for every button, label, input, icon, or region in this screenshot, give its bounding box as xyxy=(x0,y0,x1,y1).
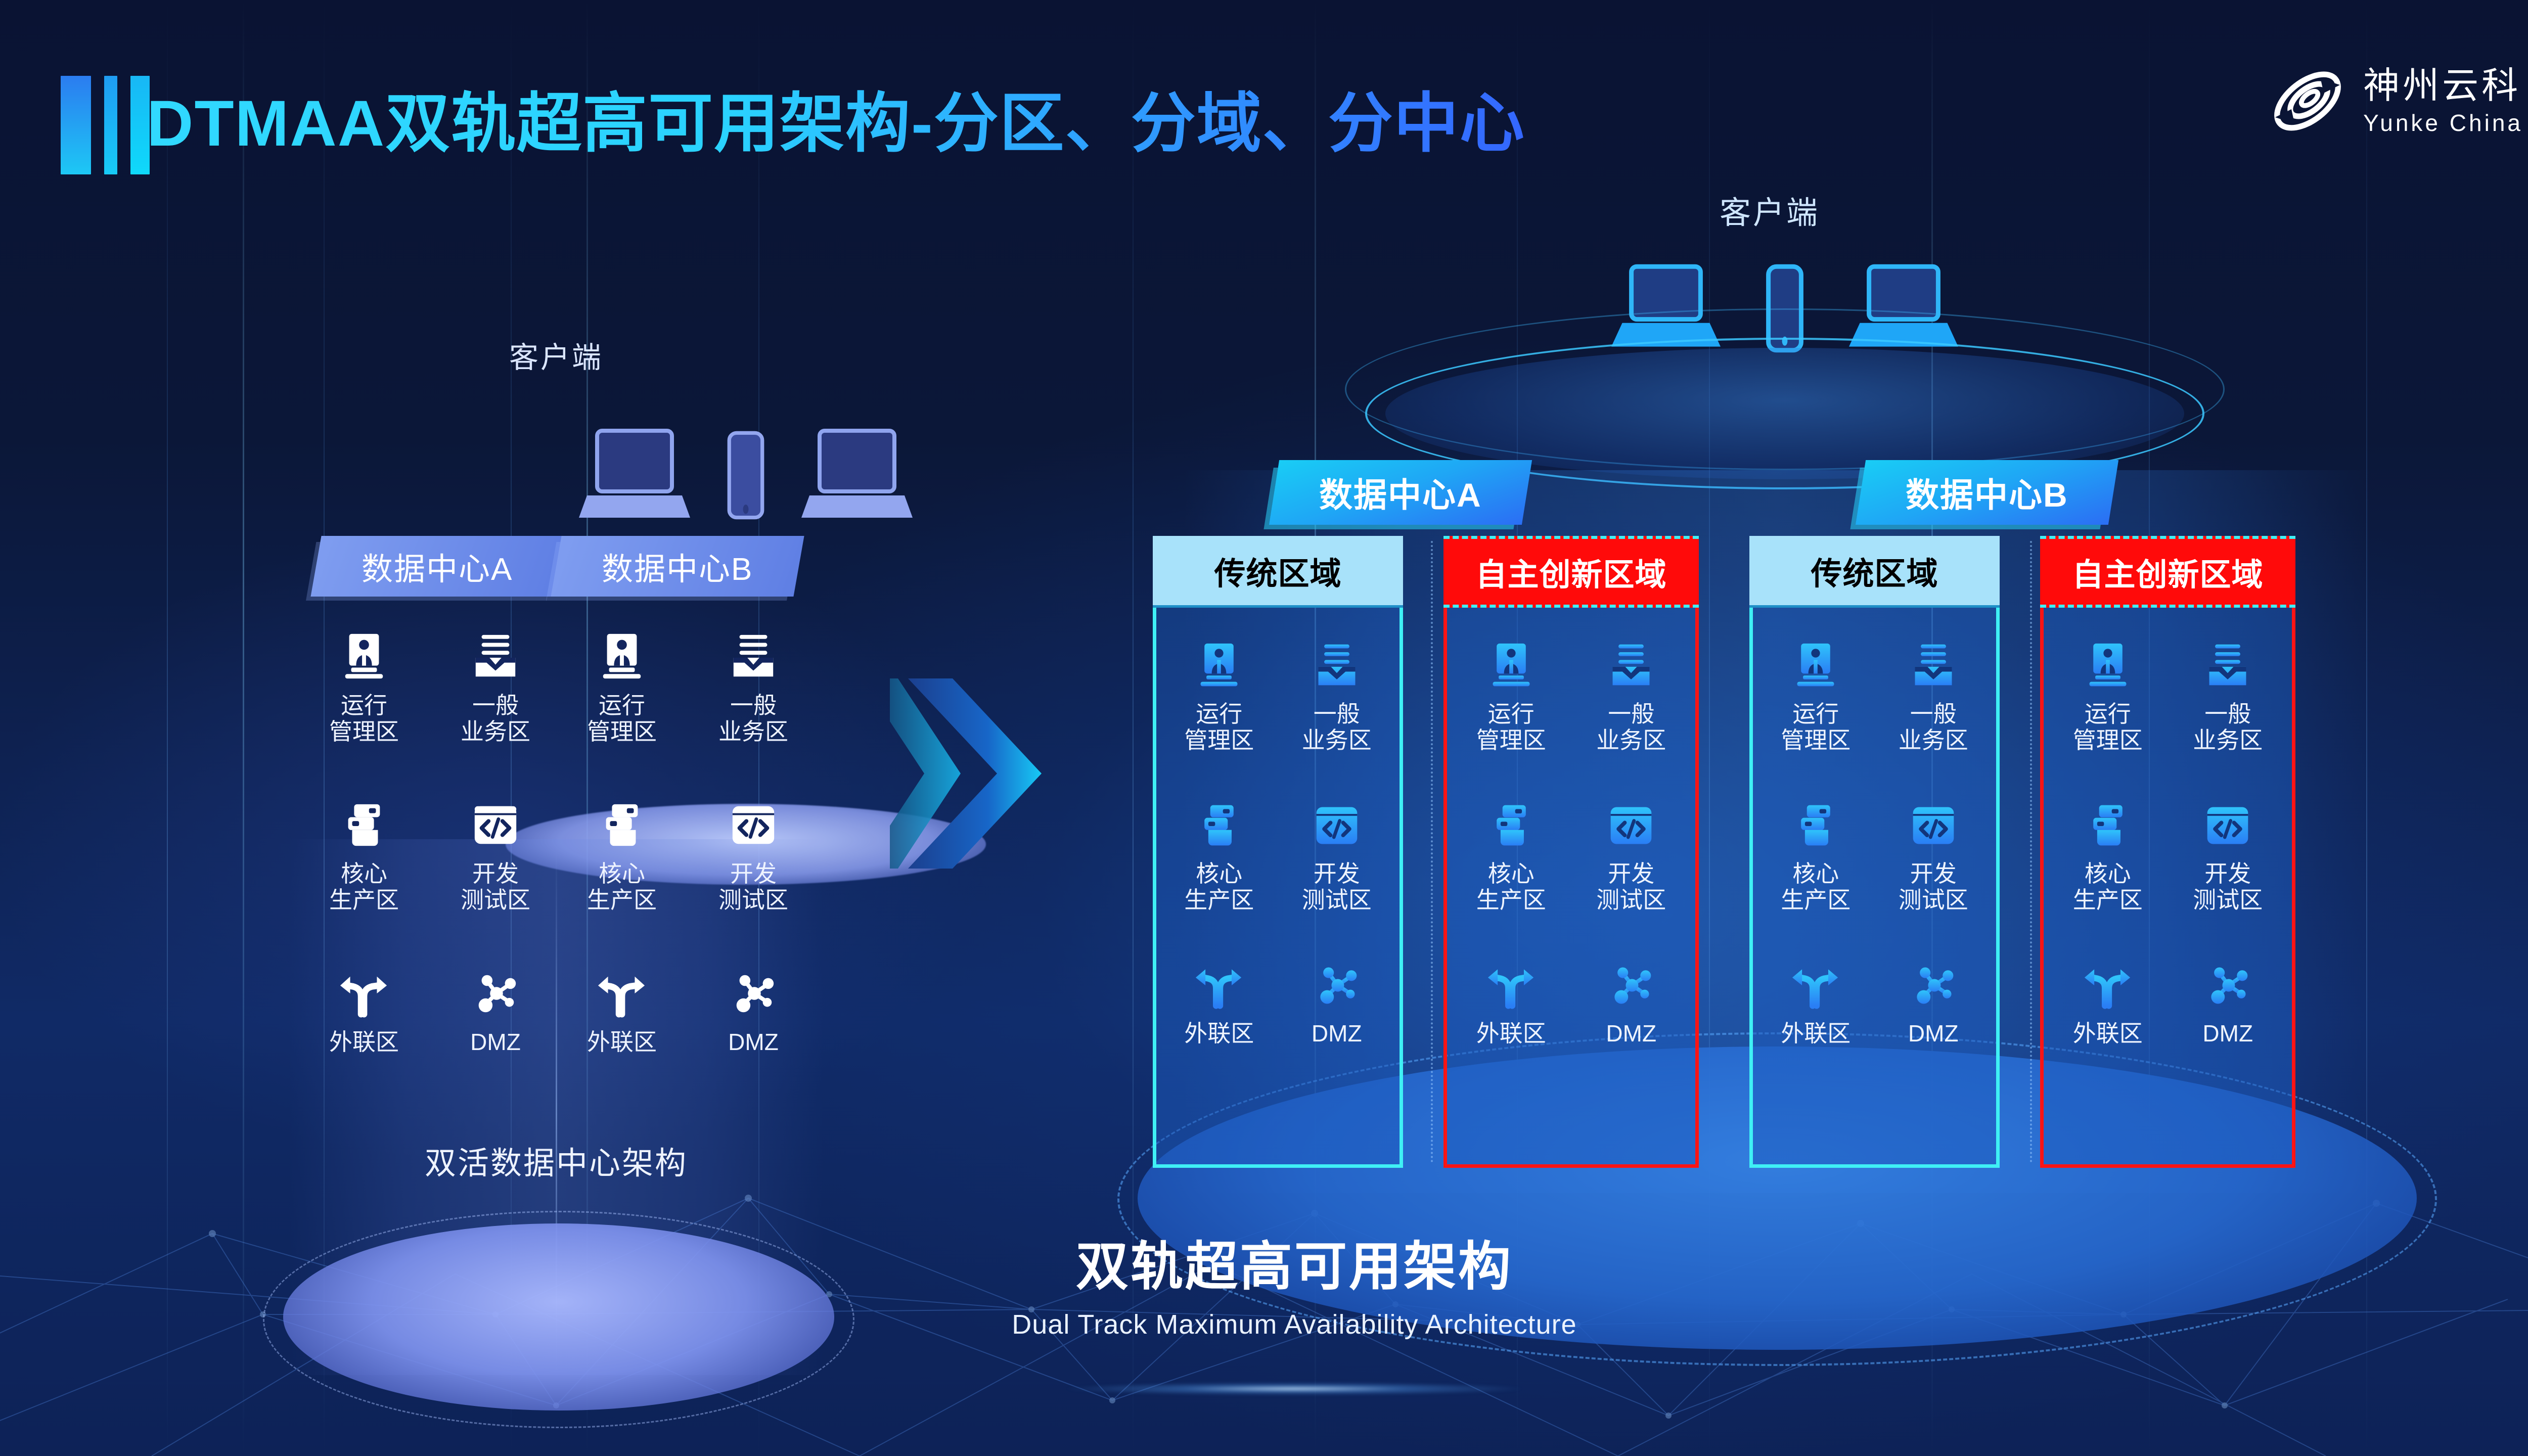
zone-label: 核心 生产区 xyxy=(329,861,399,913)
zone-item: 核心 生产区 xyxy=(1757,801,1875,913)
zone-item: 核心 生产区 xyxy=(2048,801,2168,913)
panel-header: 自主创新区域 xyxy=(2040,536,2295,608)
zone-label: 核心 生产区 xyxy=(1476,861,1546,913)
left-dc-tag-a: 数据中心A xyxy=(310,536,564,597)
zone-label: 开发 测试区 xyxy=(1302,861,1372,913)
network-nodes-icon xyxy=(729,969,778,1018)
panel-header: 传统区域 xyxy=(1749,536,2000,608)
zone-label: 开发 测试区 xyxy=(1899,861,1968,913)
inbox-tray-icon xyxy=(1909,642,1958,690)
zone-label: 外联区 xyxy=(1476,1021,1546,1047)
code-brackets-icon xyxy=(471,800,520,850)
zone-label: 核心 生产区 xyxy=(1781,861,1850,913)
bottom-glow xyxy=(1067,1382,1522,1395)
zone-label: 开发 测试区 xyxy=(1596,861,1666,913)
zone-item: 外联区 xyxy=(556,969,688,1056)
logo-text-cn: 神州云科 xyxy=(2363,68,2523,104)
zone-label: 运行 管理区 xyxy=(2073,701,2143,753)
zone-item: 一般 业务区 xyxy=(430,632,561,745)
zone-label: DMZ xyxy=(728,1029,779,1056)
brand-logo: 神州云科 Yunke China xyxy=(2267,61,2523,142)
right-dc-banner-a: 数据中心A xyxy=(1269,460,1532,525)
right-architecture-diagram: 客户端 数据中心A 数据中心B 传统区域 xyxy=(991,187,2528,1249)
branch-arrows-icon xyxy=(1195,961,1243,1010)
laptop-icon xyxy=(579,425,690,526)
branch-arrows-icon xyxy=(2084,961,2132,1010)
panel-innovation-dc-a[interactable]: 自主创新区域 运行 管理区 xyxy=(1443,536,1699,1168)
zone-item: 开发 测试区 xyxy=(688,800,819,913)
zone-item: 运行 管理区 xyxy=(298,632,430,745)
zone-label: DMZ xyxy=(2202,1021,2253,1047)
branch-arrows-icon xyxy=(339,969,389,1018)
phone-icon xyxy=(726,425,766,526)
zone-label: 核心 生产区 xyxy=(1184,861,1254,913)
user-monitor-icon xyxy=(339,632,389,681)
user-monitor-icon xyxy=(1195,642,1243,690)
zone-item: 运行 管理区 xyxy=(1160,642,1278,753)
zone-item: DMZ xyxy=(1278,961,1396,1047)
inbox-tray-icon xyxy=(1607,642,1655,690)
zone-label: 外联区 xyxy=(587,1029,657,1056)
zone-item: 外联区 xyxy=(298,969,430,1056)
code-brackets-icon xyxy=(729,800,778,850)
zone-item: 一般 业务区 xyxy=(688,632,819,745)
panel-separator xyxy=(1431,541,1433,1163)
zone-item: DMZ xyxy=(1571,961,1692,1047)
left-dc-b-zones: 运行 管理区 一般 业务区 核心 生产区 xyxy=(556,632,819,1056)
zone-label: 一般 业务区 xyxy=(461,693,530,745)
zone-label: 一般 业务区 xyxy=(1302,701,1372,753)
right-dc-banner-a-label: 数据中心A xyxy=(1319,468,1482,517)
server-stack-icon xyxy=(2084,801,2132,850)
panel-body: 运行 管理区 一般 业务区 xyxy=(1451,611,1691,1160)
zone-item: 一般 业务区 xyxy=(1571,642,1692,753)
panel-separator xyxy=(2030,541,2032,1163)
user-monitor-icon xyxy=(597,632,647,681)
server-stack-icon xyxy=(1195,801,1243,850)
zone-label: 运行 管理区 xyxy=(1184,701,1254,753)
branch-arrows-icon xyxy=(1487,961,1536,1010)
zone-item: 核心 生产区 xyxy=(556,800,688,913)
panel-header: 自主创新区域 xyxy=(1443,536,1699,608)
zone-label: 运行 管理区 xyxy=(1476,701,1546,753)
inbox-tray-icon xyxy=(1313,642,1361,690)
panel-zones: 运行 管理区 一般 业务区 xyxy=(1451,642,1691,1047)
network-nodes-icon xyxy=(1313,961,1361,1010)
zone-label: 运行 管理区 xyxy=(587,693,657,745)
right-dc-banner-b: 数据中心B xyxy=(1856,460,2118,525)
panel-zones: 运行 管理区 一般 业务区 xyxy=(2048,642,2288,1047)
panel-title: 自主创新区域 xyxy=(1475,549,1666,595)
zone-item: 开发 测试区 xyxy=(1571,801,1692,913)
zone-label: DMZ xyxy=(1312,1021,1362,1047)
zone-item: 一般 业务区 xyxy=(1875,642,1993,753)
panel-body: 运行 管理区 一般 业务区 xyxy=(1757,611,1992,1160)
panel-traditional-dc-a[interactable]: 传统区域 运行 管理区 xyxy=(1153,536,1403,1168)
zone-label: DMZ xyxy=(1908,1021,1959,1047)
zone-item: 外联区 xyxy=(1160,961,1278,1047)
zone-item: 开发 测试区 xyxy=(430,800,561,913)
server-stack-icon xyxy=(1487,801,1536,850)
panel-zones: 运行 管理区 一般 业务区 xyxy=(1160,642,1395,1047)
panel-traditional-dc-b[interactable]: 传统区域 运行 管理区 xyxy=(1749,536,2000,1168)
zone-item: DMZ xyxy=(688,969,819,1056)
left-client-label: 客户端 xyxy=(222,334,890,376)
inbox-tray-icon xyxy=(2203,642,2252,690)
panel-title: 传统区域 xyxy=(1214,548,1341,594)
zone-item: 一般 业务区 xyxy=(2168,642,2288,753)
user-monitor-icon xyxy=(2084,642,2132,690)
server-stack-icon xyxy=(339,800,389,850)
zone-label: 一般 业务区 xyxy=(718,693,788,745)
title-accent-bars xyxy=(61,76,150,174)
panel-body: 运行 管理区 一般 业务区 xyxy=(1160,611,1395,1160)
inbox-tray-icon xyxy=(729,632,778,681)
zone-label: DMZ xyxy=(1606,1021,1656,1047)
zone-label: 一般 业务区 xyxy=(1596,701,1666,753)
left-diagram-caption: 双活数据中心架构 xyxy=(222,1137,890,1183)
panel-innovation-dc-b[interactable]: 自主创新区域 运行 管理区 xyxy=(2040,536,2295,1168)
zone-label: 运行 管理区 xyxy=(329,693,399,745)
code-brackets-icon xyxy=(1607,801,1655,850)
zone-label: DMZ xyxy=(470,1029,521,1056)
panel-header: 传统区域 xyxy=(1153,536,1403,608)
zone-label: 一般 业务区 xyxy=(2193,701,2263,753)
zone-item: 运行 管理区 xyxy=(1451,642,1571,753)
zone-item: 运行 管理区 xyxy=(556,632,688,745)
zone-item: 开发 测试区 xyxy=(2168,801,2288,913)
zone-label: 外联区 xyxy=(329,1029,399,1056)
zone-item: DMZ xyxy=(1875,961,1993,1047)
zone-item: DMZ xyxy=(430,969,561,1056)
left-dc-a-zones: 运行 管理区 一般 业务区 核心 生产区 xyxy=(298,632,561,1056)
user-monitor-icon xyxy=(1791,642,1840,690)
zone-item: 运行 管理区 xyxy=(2048,642,2168,753)
server-stack-icon xyxy=(597,800,647,850)
bottom-title-block: 双轨超高可用架构 Dual Track Maximum Availability… xyxy=(0,1223,2528,1340)
branch-arrows-icon xyxy=(1791,961,1840,1010)
zone-label: 开发 测试区 xyxy=(2193,861,2263,913)
zone-item: 核心 生产区 xyxy=(298,800,430,913)
left-architecture-diagram: 客户端 数据中心A 数据中心B xyxy=(222,334,890,1223)
left-client-devices xyxy=(506,409,986,526)
page-header: DTMAA双轨超高可用架构-分区、分域、分中心 神州云科 Yunke China xyxy=(0,0,2528,192)
logo-text-en: Yunke China xyxy=(2363,111,2523,134)
right-client-label: 客户端 xyxy=(991,187,2528,233)
network-nodes-icon xyxy=(1909,961,1958,1010)
zone-label: 核心 生产区 xyxy=(587,861,657,913)
zone-label: 外联区 xyxy=(1781,1021,1850,1047)
zone-item: DMZ xyxy=(2168,961,2288,1047)
bottom-title-cn: 双轨超高可用架构 xyxy=(0,1223,2528,1300)
left-dc-tag-a-label: 数据中心A xyxy=(362,543,513,589)
zone-item: 核心 生产区 xyxy=(1451,801,1571,913)
zone-item: 运行 管理区 xyxy=(1757,642,1875,753)
code-brackets-icon xyxy=(1313,801,1361,850)
right-dc-banner-b-label: 数据中心B xyxy=(1906,468,2068,517)
zone-label: 核心 生产区 xyxy=(2073,861,2143,913)
server-stack-icon xyxy=(1791,801,1840,850)
panel-title: 自主创新区域 xyxy=(2072,549,2263,595)
zone-item: 外联区 xyxy=(1451,961,1571,1047)
panel-title: 传统区域 xyxy=(1811,548,1938,594)
network-nodes-icon xyxy=(471,969,520,1018)
panel-zones: 运行 管理区 一般 业务区 xyxy=(1757,642,1992,1047)
panel-body: 运行 管理区 一般 业务区 xyxy=(2048,611,2288,1160)
page-title: DTMAA双轨超高可用架构-分区、分域、分中心 xyxy=(147,71,1525,164)
code-brackets-icon xyxy=(1909,801,1958,850)
user-monitor-icon xyxy=(1487,642,1536,690)
left-dc-tag-b-label: 数据中心B xyxy=(602,543,753,589)
laptop-icon xyxy=(801,425,913,526)
zone-label: 开发 测试区 xyxy=(718,861,788,913)
code-brackets-icon xyxy=(2203,801,2252,850)
network-nodes-icon xyxy=(2203,961,2252,1010)
zone-item: 外联区 xyxy=(2048,961,2168,1047)
network-nodes-icon xyxy=(1607,961,1655,1010)
zone-label: 外联区 xyxy=(2073,1021,2143,1047)
zone-item: 一般 业务区 xyxy=(1278,642,1396,753)
zone-label: 开发 测试区 xyxy=(461,861,530,913)
branch-arrows-icon xyxy=(597,969,647,1018)
left-dc-tag-b: 数据中心B xyxy=(551,536,804,597)
bottom-title-en: Dual Track Maximum Availability Architec… xyxy=(0,1309,2528,1340)
zone-label: 外联区 xyxy=(1184,1021,1254,1047)
zone-item: 开发 测试区 xyxy=(1278,801,1396,913)
yunke-swirl-logo-icon xyxy=(2267,61,2348,142)
zone-item: 开发 测试区 xyxy=(1875,801,1993,913)
zone-label: 运行 管理区 xyxy=(1781,701,1850,753)
inbox-tray-icon xyxy=(471,632,520,681)
zone-item: 外联区 xyxy=(1757,961,1875,1047)
zone-label: 一般 业务区 xyxy=(1899,701,1968,753)
zone-item: 核心 生产区 xyxy=(1160,801,1278,913)
